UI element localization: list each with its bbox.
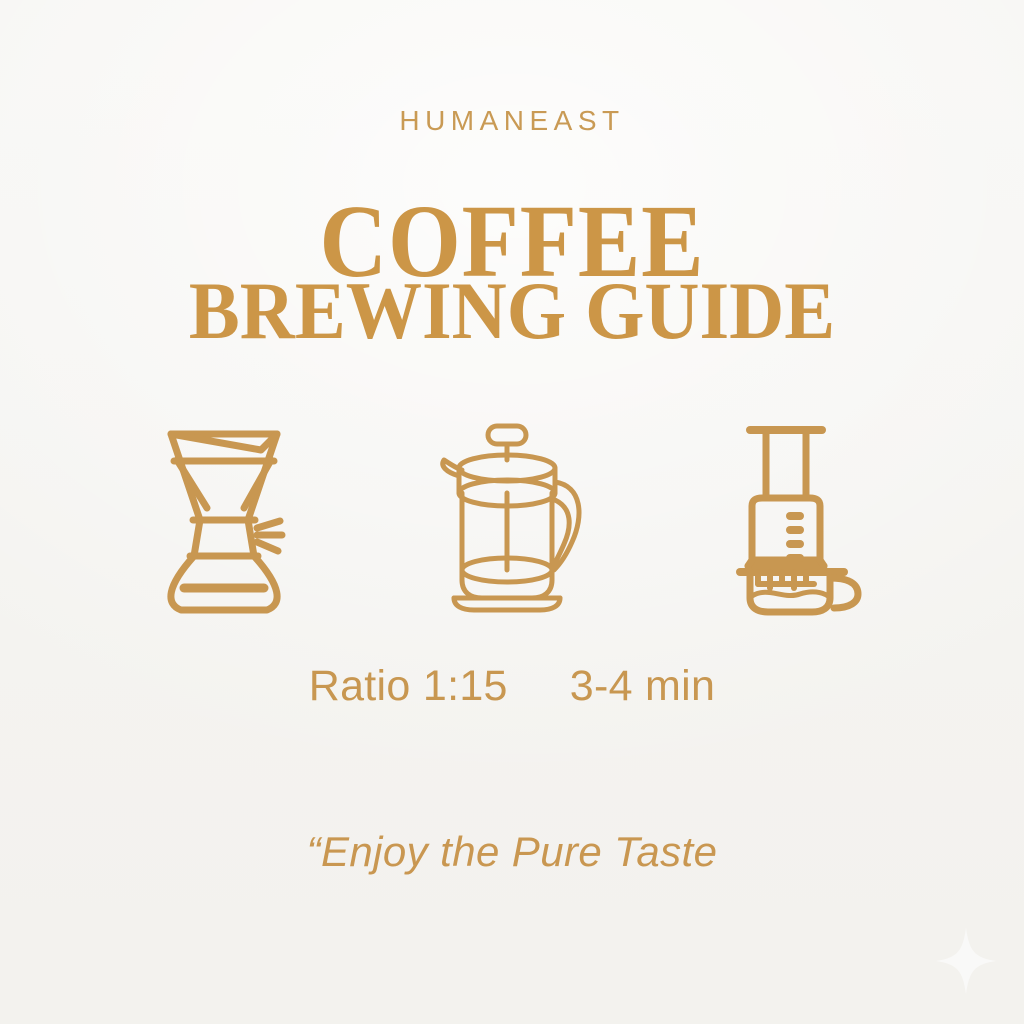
french-press-icon — [432, 420, 592, 615]
brew-specs: Ratio 1:15 3-4 min — [0, 662, 1024, 711]
spec-time: 3-4 min — [570, 662, 715, 711]
tagline: “Enjoy the Pure Taste — [0, 828, 1024, 876]
brewer-chemex — [139, 415, 309, 620]
spec-ratio: Ratio 1:15 — [309, 662, 508, 711]
aeropress-icon — [736, 420, 864, 615]
poster-canvas: HUMANEAST COFFEE BREWING GUIDE — [0, 0, 1024, 1024]
chemex-icon — [149, 420, 299, 615]
page-title-secondary: BREWING GUIDE — [36, 270, 988, 352]
brewer-aeropress — [715, 415, 885, 620]
brew-method-icon-row — [0, 412, 1024, 622]
brand-name: HUMANEAST — [0, 105, 1024, 137]
brewer-french-press — [427, 415, 597, 620]
sparkle-icon — [936, 928, 996, 994]
